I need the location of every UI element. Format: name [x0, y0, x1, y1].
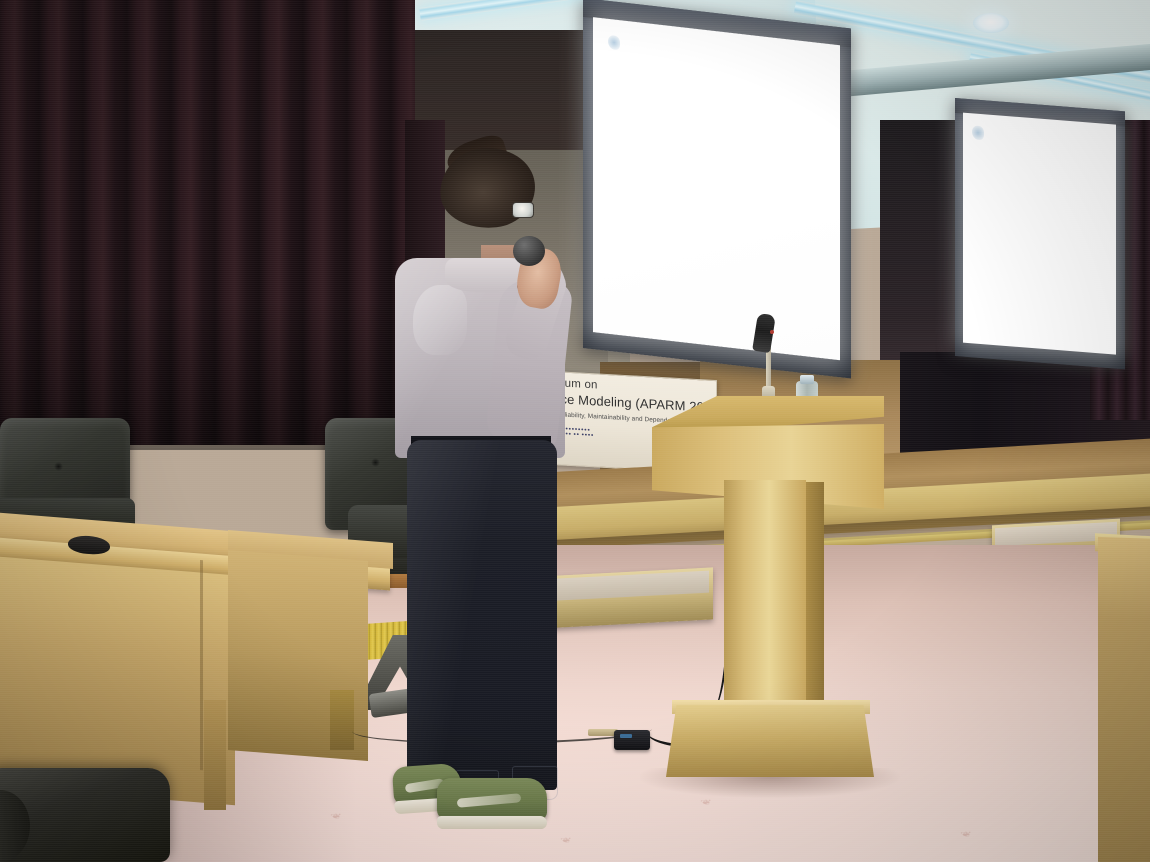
projection-screen-primary: [583, 0, 851, 379]
lectern-base: [666, 705, 874, 777]
mic-indicator-icon: [770, 330, 774, 334]
shoe-stripe-icon: [457, 793, 521, 808]
water-bottle-cap: [800, 375, 814, 384]
shirt-fold-highlight: [413, 285, 467, 355]
carpet-motif: ❦: [960, 830, 975, 839]
presenter: [385, 140, 585, 840]
eyeglasses-icon: [512, 202, 534, 218]
table-leg: [204, 700, 226, 810]
screen-smudge-icon: [608, 35, 620, 50]
projection-screen-secondary: [955, 98, 1125, 369]
carpet-motif: ❦: [700, 798, 715, 807]
screen-smudge-icon: [972, 125, 984, 140]
screen-surface: [593, 17, 840, 360]
presenter-shoe-right: [437, 778, 547, 820]
table-right: [1098, 537, 1150, 862]
lectern-column-edge: [806, 482, 824, 714]
floor-power-adapter: [614, 730, 650, 750]
chair-tuft: [54, 462, 63, 471]
presenter-jeans: [407, 440, 557, 790]
adapter-led-icon: [620, 734, 632, 738]
shoe-sole: [437, 816, 547, 829]
screen-surface: [963, 113, 1116, 355]
handheld-microphone: [513, 236, 545, 266]
recessed-downlight-icon: [973, 13, 1009, 33]
chair-tuft: [371, 458, 380, 467]
lectern-column: [724, 480, 806, 720]
table-leg: [330, 690, 354, 750]
table-panel-seam: [200, 560, 203, 770]
photograph-scene: ...Symposium on ...ntenance Modeling (AP…: [0, 0, 1150, 862]
